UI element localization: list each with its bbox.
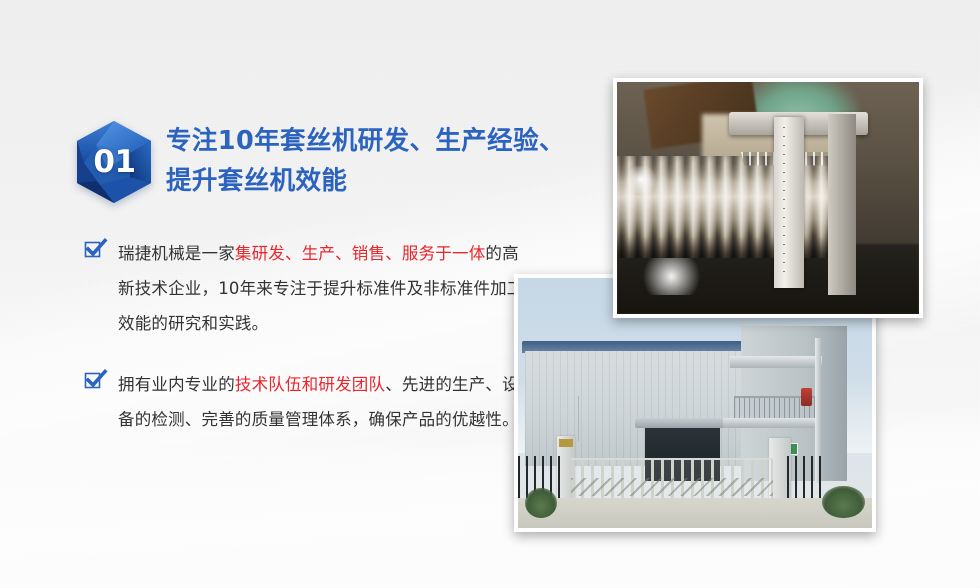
antenna-pole [578, 396, 579, 441]
metal-highlight-2 [623, 166, 659, 194]
gate-zigzag-pattern [571, 478, 773, 496]
bullet-2-seg-0: 拥有业内专业的 [118, 375, 235, 394]
bullet-1-seg-1-highlight: 集研发、生产、销售、服务于一体 [235, 244, 486, 263]
balcony-slab [723, 418, 819, 428]
feature-bullet-list: 瑞捷机械是一家集研发、生产、销售、服务于一体的高新技术企业，10年来专注于提升标… [84, 236, 524, 463]
badge-number-label: 01 [74, 119, 154, 205]
ground-pavement [518, 498, 872, 528]
threaded-rod-caliper-photo [613, 78, 923, 318]
bush-right [822, 486, 864, 519]
metal-highlight-1 [635, 258, 707, 295]
threaded-rod-caliper-photo-image [617, 82, 919, 314]
red-tank [801, 388, 812, 406]
gate-plaque [559, 439, 573, 447]
headline-row: 01 专注10年套丝机研发、生产经验、 提升套丝机效能 [74, 117, 565, 205]
headline-line-2: 提升套丝机效能 [166, 161, 565, 201]
bush-left [525, 488, 557, 518]
bullet-text: 拥有业内专业的技术队伍和研发团队、先进的生产、设备的检测、完善的质量管理体系，确… [118, 367, 524, 437]
bullet-1-seg-0: 瑞捷机械是一家 [118, 244, 235, 263]
step-number-badge: 01 [74, 119, 154, 205]
caliper-right-arm [828, 114, 855, 295]
door-lintel [635, 418, 734, 428]
workshop-scene [617, 82, 919, 314]
list-item: 拥有业内专业的技术队伍和研发团队、先进的生产、设备的检测、完善的质量管理体系，确… [84, 367, 524, 437]
text-content-column: 01 专注10年套丝机研发、生产经验、 提升套丝机效能 瑞捷机械是一家集研发、生… [0, 0, 560, 588]
checkbox-checked-icon [84, 238, 106, 260]
headline-block: 专注10年套丝机研发、生产经验、 提升套丝机效能 [166, 117, 565, 201]
bullet-text: 瑞捷机械是一家集研发、生产、销售、服务于一体的高新技术企业，10年来专注于提升标… [118, 236, 524, 341]
list-item: 瑞捷机械是一家集研发、生产、销售、服务于一体的高新技术企业，10年来专注于提升标… [84, 236, 524, 341]
checkbox-checked-icon [84, 369, 106, 391]
banner-stage: 01 专注10年套丝机研发、生产经验、 提升套丝机效能 瑞捷机械是一家集研发、生… [0, 0, 980, 588]
caliper-beam [774, 117, 804, 289]
headline-line-1: 专注10年套丝机研发、生产经验、 [166, 121, 565, 161]
bullet-2-seg-1-highlight: 技术队伍和研发团队 [235, 375, 385, 394]
office-roof-slab [730, 356, 822, 369]
